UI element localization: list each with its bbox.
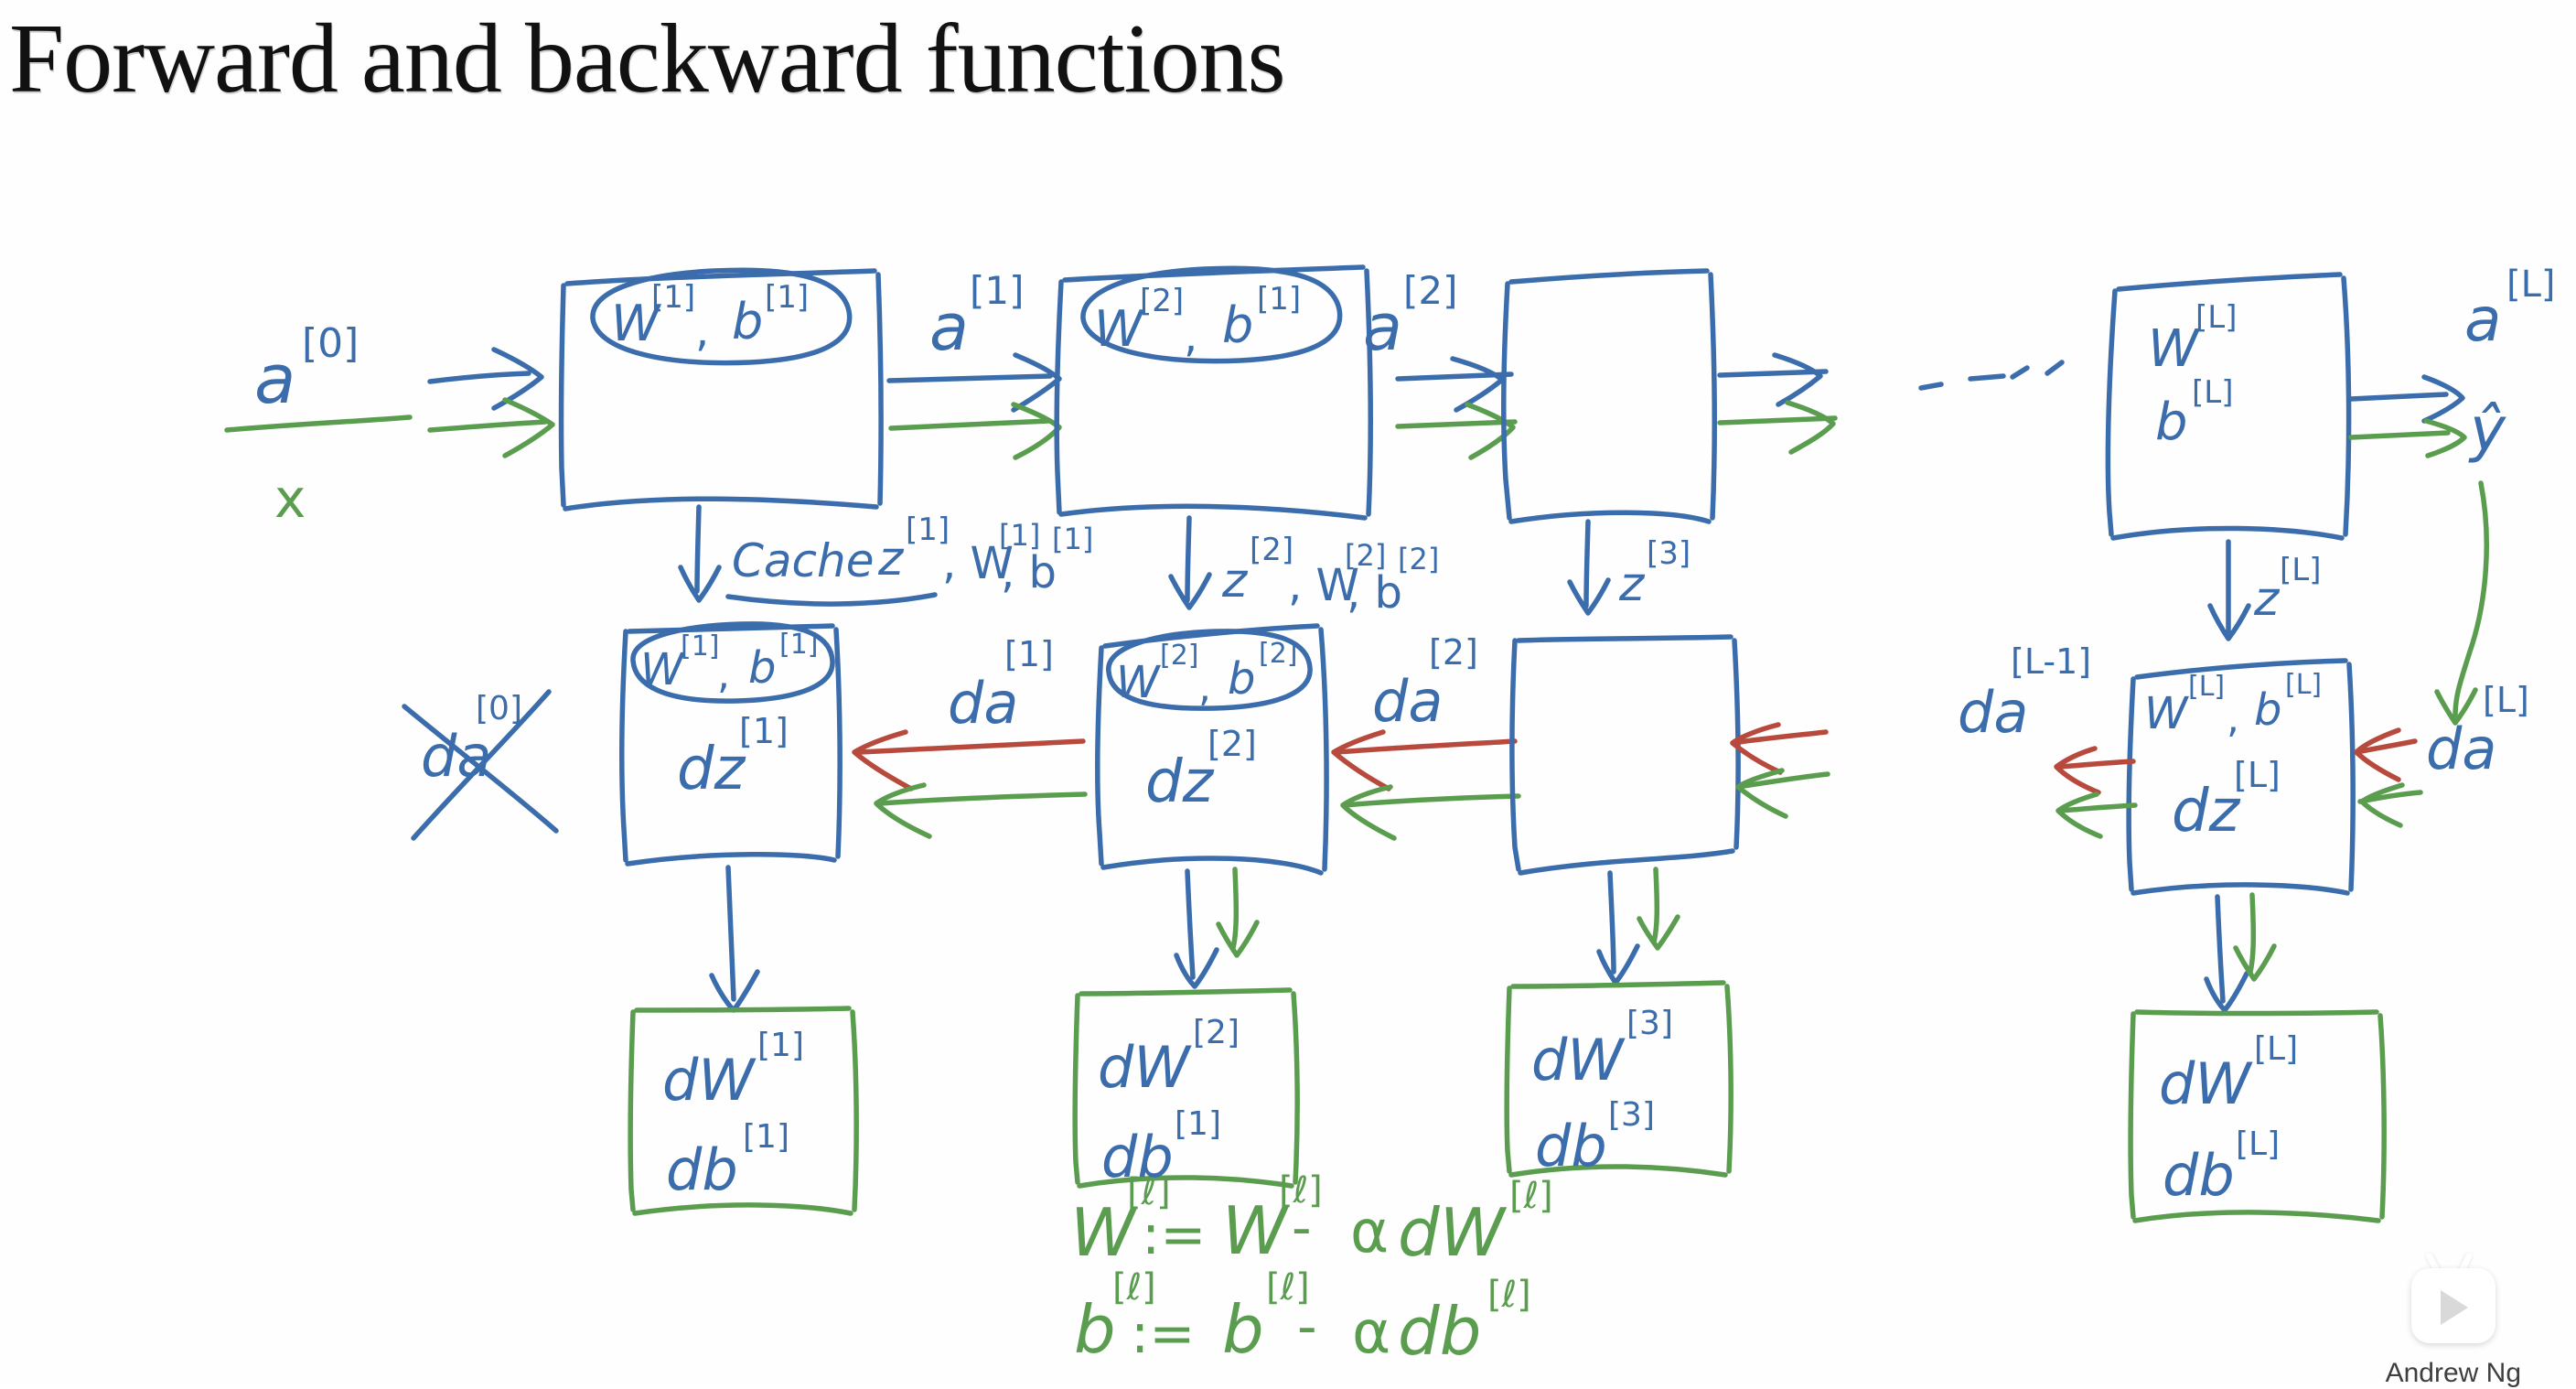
svg-text:a: a (929, 290, 969, 365)
svg-text:b: b (748, 642, 776, 694)
svg-text:[1]: [1] (739, 711, 789, 751)
svg-text:db: db (2163, 1142, 2235, 1209)
svg-text:α: α (1352, 1299, 1390, 1367)
update-rule-line-2: b [ℓ] := b [ℓ] - α db [ℓ] (1074, 1266, 1531, 1370)
svg-text:[ℓ]: [ℓ] (1509, 1175, 1553, 1217)
svg-text:[L]: [L] (2234, 755, 2281, 795)
svg-text:a: a (2464, 285, 2501, 355)
svg-text:W: W (640, 644, 685, 695)
backward-arrow-red-3 (1733, 725, 1826, 772)
svg-text:[2]: [2] (1403, 268, 1458, 313)
backward-block-L: W [L] , b [L] dz [L] (2129, 661, 2353, 893)
svg-text:da: da (421, 723, 491, 790)
svg-text:dz: dz (2172, 778, 2241, 845)
svg-text:[1]: [1] (757, 1027, 804, 1064)
svg-text:[L]: [L] (2483, 680, 2529, 720)
svg-text:[L]: [L] (2195, 299, 2237, 336)
svg-text:b: b (1074, 1291, 1116, 1368)
svg-text:da: da (2426, 716, 2496, 782)
svg-text:dz: dz (1145, 748, 1215, 816)
forward-arrow-blue-1 (889, 355, 1059, 410)
grad-box-L: dW [L] db [L] (2131, 1012, 2384, 1221)
svg-text:[1]: [1] (779, 629, 819, 661)
svg-text:[2]: [2] (1398, 542, 1439, 576)
svg-text:Cache: Cache (732, 534, 875, 587)
backward-activation-1: da [1] (948, 634, 1054, 737)
svg-text:dW: dW (1398, 1194, 1508, 1271)
update-rule-line-1: W [ℓ] := W [ℓ] - α dW [ℓ] (1070, 1169, 1553, 1271)
forward-cache-3: z [3] (1570, 522, 1690, 613)
svg-text:da: da (948, 670, 1018, 737)
forward-input-activation: a [0] x (227, 320, 410, 530)
svg-text:[1]: [1] (1052, 522, 1093, 556)
svg-text:[2]: [2] (1193, 1014, 1240, 1051)
svg-text:a: a (1363, 290, 1402, 365)
backward-arrow-green-L-in (2360, 785, 2420, 825)
svg-text:dz: dz (677, 736, 746, 803)
svg-text:[L]: [L] (2188, 671, 2225, 703)
svg-text:[1]: [1] (651, 279, 695, 316)
grad-arrow-2 (1176, 869, 1257, 986)
svg-text:[1]: [1] (1257, 281, 1301, 318)
backward-arrow-green-2 (1343, 787, 1519, 838)
forward-arrow-green-0 (430, 400, 553, 456)
forward-activation-2: a [2] (1363, 268, 1458, 365)
svg-text:[L]: [L] (2506, 264, 2556, 306)
svg-text:a: a (254, 340, 295, 419)
svg-text:-: - (1297, 1295, 1317, 1359)
svg-text:z: z (1221, 554, 1249, 608)
svg-text:ŷ: ŷ (2468, 394, 2506, 465)
backward-crossed-da0: da [0] (404, 690, 556, 838)
svg-text:,: , (717, 651, 730, 698)
svg-text:[L]: [L] (2192, 374, 2233, 411)
forward-cache-L: z [L] (2210, 542, 2321, 639)
svg-text:[L]: [L] (2280, 552, 2321, 588)
forward-cache-2: z [2] , W [2] , b [2] (1171, 518, 1439, 619)
svg-text:[3]: [3] (1626, 1005, 1673, 1042)
forward-arrow-blue-3 (1720, 355, 1826, 404)
forward-cache-1: Cache z [1] , W [1] , b [1] (681, 507, 1093, 604)
svg-text::=: := (1131, 1302, 1196, 1366)
forward-block-L: W [L] b [L] (2108, 275, 2348, 538)
forward-arrow-green-1 (891, 404, 1059, 458)
forward-block-2: W [2] , b [1] (1057, 267, 1370, 518)
svg-text:,: , (1184, 311, 1197, 362)
backward-arrow-red-2 (1334, 732, 1515, 789)
svg-text:-: - (1292, 1196, 1312, 1260)
svg-text:b: b (1222, 1291, 1264, 1368)
handwritten-diagram: .bs{fill:none;stroke:#3b6cab;stroke-widt… (0, 0, 2576, 1385)
svg-text:[1]: [1] (970, 268, 1025, 313)
svg-text:W: W (2148, 319, 2201, 379)
svg-text:α: α (1350, 1199, 1389, 1266)
svg-text:[2]: [2] (1140, 283, 1184, 319)
svg-text:b: b (2254, 684, 2281, 736)
svg-text:x: x (274, 468, 306, 530)
svg-text:db: db (1398, 1293, 1481, 1370)
grad-arrow-3 (1599, 869, 1678, 983)
svg-text:,: , (2227, 695, 2239, 742)
svg-text:[3]: [3] (1608, 1096, 1655, 1134)
svg-text:dW: dW (662, 1047, 757, 1114)
svg-text:z: z (2253, 572, 2281, 627)
svg-text:[2]: [2] (1207, 724, 1257, 764)
forward-arrow-blue-0 (430, 350, 542, 408)
svg-text:dW: dW (2159, 1050, 2253, 1117)
backward-activation-L-1: da [L-1] (1958, 641, 2091, 746)
svg-text:,: , (695, 306, 709, 357)
svg-text:[L-1]: [L-1] (2011, 641, 2091, 682)
svg-text:[1]: [1] (1004, 634, 1054, 674)
svg-text:[L]: [L] (2285, 669, 2322, 701)
svg-text:b: b (2155, 393, 2188, 452)
svg-text:[L]: [L] (2236, 1125, 2280, 1163)
forward-activation-1: a [1] (929, 268, 1025, 365)
svg-text:b: b (1228, 653, 1255, 705)
backward-block-2: W [2] , b [2] dz [2] (1098, 626, 1326, 873)
svg-text:[1]: [1] (681, 630, 720, 662)
svg-text:[0]: [0] (476, 690, 522, 727)
backward-arrow-green-3 (1738, 770, 1828, 816)
forward-arrow-green-3 (1720, 403, 1835, 452)
svg-text:[L]: [L] (2254, 1030, 2298, 1068)
svg-text:db: db (1535, 1113, 1607, 1179)
svg-text:[1]: [1] (743, 1118, 789, 1156)
svg-text:b: b (1222, 296, 1253, 354)
backward-arrow-red-1 (854, 732, 1083, 789)
svg-text:b: b (732, 293, 763, 350)
svg-text:da: da (1958, 679, 2028, 746)
grad-box-2: dW [2] db [1] (1075, 990, 1297, 1190)
grad-arrow-L (2206, 895, 2274, 1010)
backward-arrow-red-L-in (2356, 730, 2415, 780)
svg-text:[2]: [2] (1259, 638, 1298, 670)
svg-text:db: db (666, 1136, 738, 1203)
forward-arrow-blue-2 (1398, 359, 1511, 410)
svg-text:[1]: [1] (1175, 1105, 1221, 1143)
backward-arrow-red-L-out (2056, 748, 2133, 792)
svg-text:,: , (1198, 664, 1211, 711)
slide-canvas: Forward and backward functions .bs{fill:… (0, 0, 2576, 1385)
svg-text:dW: dW (1098, 1034, 1192, 1101)
forward-output: a [L] ŷ (2351, 264, 2556, 723)
backward-activation-2: da [2] (1372, 632, 1478, 735)
svg-text:[2]: [2] (1160, 640, 1199, 672)
svg-text:z: z (1618, 557, 1646, 612)
grad-box-1: dW [1] db [1] (630, 1008, 856, 1213)
svg-text:[1]: [1] (765, 279, 809, 316)
svg-text:z: z (877, 532, 905, 587)
backward-block-1: W [1] , b [1] dz [1] (622, 624, 840, 864)
svg-text:[ℓ]: [ℓ] (1487, 1274, 1531, 1316)
svg-text:[0]: [0] (302, 320, 359, 367)
svg-text:da: da (1372, 668, 1443, 735)
backward-arrow-green-1 (876, 785, 1085, 836)
grad-arrow-1 (712, 867, 757, 1010)
backward-arrow-green-L-out (2058, 794, 2135, 836)
svg-text:W: W (1094, 300, 1145, 358)
svg-text:W: W (1116, 657, 1161, 708)
forward-block-3 (1504, 271, 1714, 522)
svg-text:W: W (2144, 688, 2189, 739)
svg-text:[2]: [2] (1429, 632, 1478, 673)
svg-text::=: := (1142, 1203, 1207, 1267)
svg-text:, b: , b (1347, 567, 1402, 619)
grad-box-3: dW [3] db [3] (1507, 983, 1731, 1179)
backward-block-3 (1512, 637, 1738, 873)
svg-text:[3]: [3] (1647, 535, 1690, 572)
svg-text:, b: , b (1001, 547, 1057, 598)
svg-text:dW: dW (1531, 1027, 1626, 1093)
forward-ellipsis (1921, 362, 2062, 388)
forward-block-1: W [1] , b [1] (562, 270, 881, 509)
svg-text:[2]: [2] (1250, 532, 1293, 568)
